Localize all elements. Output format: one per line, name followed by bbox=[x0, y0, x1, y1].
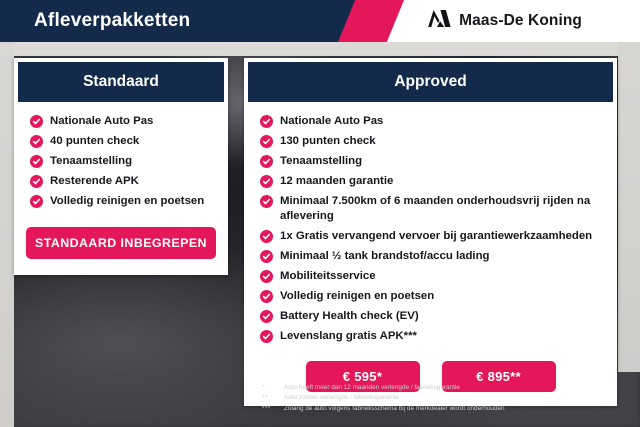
check-circle-icon bbox=[260, 175, 273, 188]
screenshot-stage: Afleverpakketten Maas-De Koning Standaar… bbox=[0, 0, 640, 427]
feature-label: Minimaal 7.500km of 6 maanden onderhouds… bbox=[280, 194, 603, 224]
feature-label: Nationale Auto Pas bbox=[280, 114, 383, 129]
footnote-triple-asterisk: *** Zolang de auto volgens fabrieksschem… bbox=[262, 404, 622, 414]
list-item: Resterende APK bbox=[30, 174, 214, 189]
feature-label: Volledig reinigen en poetsen bbox=[50, 194, 204, 209]
standaard-feature-list: Nationale Auto Pas 40 punten check Tenaa… bbox=[14, 114, 228, 209]
maas-de-koning-m-mark-icon bbox=[427, 9, 452, 33]
check-circle-icon bbox=[30, 155, 43, 168]
check-circle-icon bbox=[260, 310, 273, 323]
list-item: Levenslang gratis APK*** bbox=[260, 329, 603, 344]
card-standaard-title: Standaard bbox=[18, 62, 224, 102]
list-item: Tenaamstelling bbox=[30, 154, 214, 169]
feature-label: 12 maanden garantie bbox=[280, 174, 393, 189]
card-approved: Approved Nationale Auto Pas 130 punten c… bbox=[244, 58, 617, 406]
feature-label: 40 punten check bbox=[50, 134, 139, 149]
card-approved-body: Nationale Auto Pas 130 punten check Tena… bbox=[244, 102, 617, 406]
check-circle-icon bbox=[260, 250, 273, 263]
standaard-inbegrepen-button[interactable]: STANDAARD INBEGREPEN bbox=[26, 227, 216, 259]
list-item: 40 punten check bbox=[30, 134, 214, 149]
footnote-mark: * bbox=[262, 383, 284, 393]
list-item: Nationale Auto Pas bbox=[30, 114, 214, 129]
page-title: Afleverpakketten bbox=[34, 0, 190, 42]
list-item: 12 maanden garantie bbox=[260, 174, 603, 189]
check-circle-icon bbox=[30, 195, 43, 208]
list-item: Battery Health check (EV) bbox=[260, 309, 603, 324]
card-standaard-body: Nationale Auto Pas 40 punten check Tenaa… bbox=[14, 102, 228, 275]
check-circle-icon bbox=[260, 230, 273, 243]
list-item: Minimaal ½ tank brandstof/accu lading bbox=[260, 249, 603, 264]
feature-label: 130 punten check bbox=[280, 134, 376, 149]
list-item: 130 punten check bbox=[260, 134, 603, 149]
list-item: Tenaamstelling bbox=[260, 154, 603, 169]
feature-label: Volledig reinigen en poetsen bbox=[280, 289, 434, 304]
check-circle-icon bbox=[260, 155, 273, 168]
feature-label: Resterende APK bbox=[50, 174, 139, 189]
feature-label: Tenaamstelling bbox=[50, 154, 132, 169]
page-header: Afleverpakketten Maas-De Koning bbox=[0, 0, 640, 42]
feature-label: Minimaal ½ tank brandstof/accu lading bbox=[280, 249, 490, 264]
check-circle-icon bbox=[260, 290, 273, 303]
background-right-strip bbox=[618, 42, 640, 372]
footnote-text: Auto zonder verlengde / fabrieksgarantie bbox=[284, 393, 399, 403]
footnote-single-asterisk: * Auto heeft meer dan 12 maanden verleng… bbox=[262, 383, 622, 393]
check-circle-icon bbox=[260, 270, 273, 283]
card-approved-title: Approved bbox=[248, 62, 613, 102]
check-circle-icon bbox=[30, 135, 43, 148]
footnotes: * Auto heeft meer dan 12 maanden verleng… bbox=[262, 383, 622, 414]
list-item: Mobiliteitsservice bbox=[260, 269, 603, 284]
list-item: Minimaal 7.500km of 6 maanden onderhouds… bbox=[260, 194, 603, 224]
brand-name: Maas-De Koning bbox=[459, 12, 582, 30]
check-circle-icon bbox=[260, 330, 273, 343]
check-circle-icon bbox=[260, 115, 273, 128]
footnote-mark: *** bbox=[262, 404, 284, 414]
feature-label: Mobiliteitsservice bbox=[280, 269, 376, 284]
background-mid-band bbox=[14, 42, 618, 56]
feature-label: Battery Health check (EV) bbox=[280, 309, 419, 324]
brand-logo: Maas-De Koning bbox=[427, 0, 582, 42]
standaard-cta-row: STANDAARD INBEGREPEN bbox=[14, 214, 228, 275]
approved-feature-list: Nationale Auto Pas 130 punten check Tena… bbox=[244, 114, 617, 344]
check-circle-icon bbox=[30, 175, 43, 188]
check-circle-icon bbox=[260, 135, 273, 148]
list-item: Volledig reinigen en poetsen bbox=[260, 289, 603, 304]
footnote-double-asterisk: ** Auto zonder verlengde / fabrieksgaran… bbox=[262, 393, 622, 403]
footnote-text: Auto heeft meer dan 12 maanden verlengde… bbox=[284, 383, 460, 393]
feature-label: Tenaamstelling bbox=[280, 154, 362, 169]
card-standaard: Standaard Nationale Auto Pas 40 punten c… bbox=[14, 58, 228, 275]
footnote-mark: ** bbox=[262, 393, 284, 403]
footnote-text: Zolang de auto volgens fabrieksschema bi… bbox=[284, 404, 505, 414]
feature-label: Levenslang gratis APK*** bbox=[280, 329, 417, 344]
list-item: Volledig reinigen en poetsen bbox=[30, 194, 214, 209]
list-item: 1x Gratis vervangend vervoer bij garanti… bbox=[260, 229, 603, 244]
list-item: Nationale Auto Pas bbox=[260, 114, 603, 129]
background-left-strip bbox=[0, 42, 14, 427]
feature-label: Nationale Auto Pas bbox=[50, 114, 153, 129]
check-circle-icon bbox=[30, 115, 43, 128]
check-circle-icon bbox=[260, 195, 273, 208]
feature-label: 1x Gratis vervangend vervoer bij garanti… bbox=[280, 229, 592, 244]
